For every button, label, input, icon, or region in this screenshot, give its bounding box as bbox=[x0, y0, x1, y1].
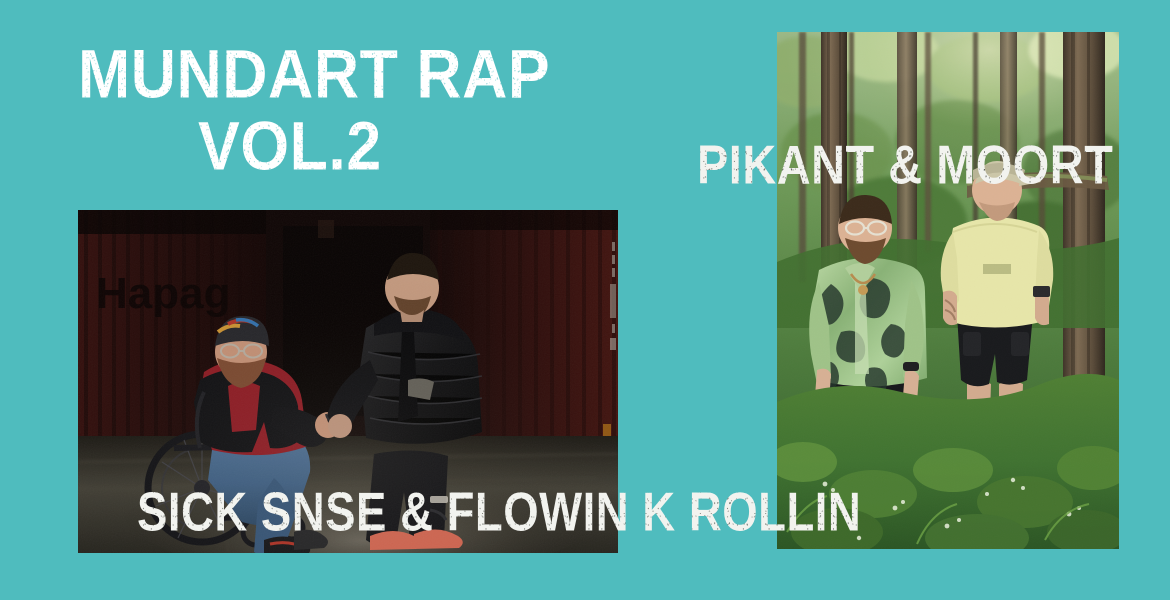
artist-name-sick-snse-flowin-k-rollin: SICK SNSE & FLOWIN K ROLLIN bbox=[137, 487, 861, 539]
poster-canvas: Hapag bbox=[0, 0, 1170, 600]
artist-name-pikant-moort: PIKANT & MOORT bbox=[697, 140, 1113, 192]
forest-scene bbox=[777, 32, 1119, 549]
headline-line-1: MUNDART RAP bbox=[78, 42, 550, 107]
photo-pikant-moort bbox=[777, 32, 1119, 549]
headline-line-2: VOL.2 bbox=[198, 114, 382, 179]
